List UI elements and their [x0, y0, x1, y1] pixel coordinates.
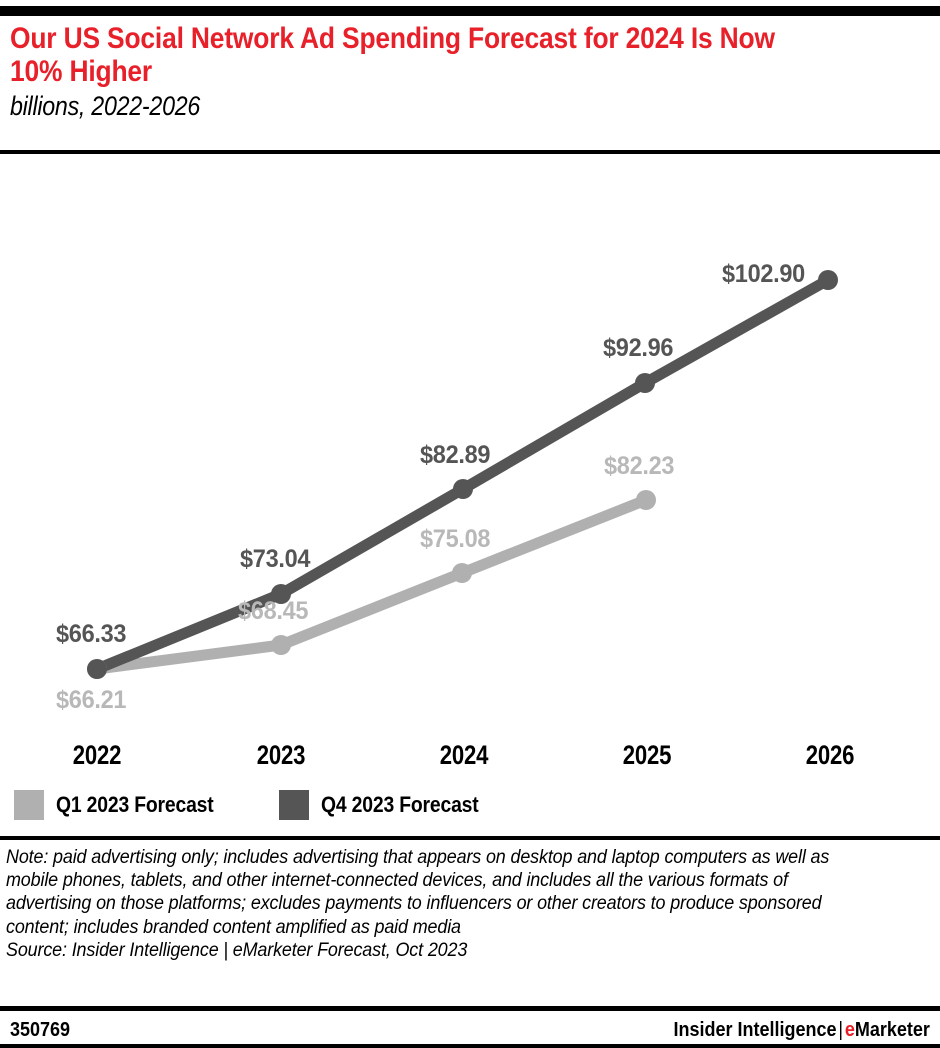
brand-emarketer-rest: Marketer	[855, 1019, 930, 1041]
value-label-q1-2023: $68.45	[238, 597, 308, 626]
note-divider	[0, 836, 940, 840]
page-subtitle: billions, 2022-2026	[10, 90, 801, 122]
value-label-q4-2022: $66.33	[56, 620, 126, 649]
data-point-q4-2024	[453, 479, 473, 499]
legend-item-q4-2023[interactable]: Q4 2023 Forecast	[279, 790, 500, 820]
chart-page: Our US Social Network Ad Spending Foreca…	[0, 0, 940, 1048]
chart-footer: 350769 Insider Intelligence|eMarketer	[0, 1015, 940, 1045]
x-tick-2023: 2023	[257, 740, 306, 771]
legend-item-q1-2023[interactable]: Q1 2023 Forecast	[14, 790, 235, 820]
data-point-q4-2025	[635, 373, 655, 393]
brand-mark: Insider Intelligence|eMarketer	[674, 1019, 930, 1042]
series-line-q4-2023	[97, 280, 828, 669]
value-label-q1-2024: $75.08	[420, 525, 490, 554]
value-label-q4-2024: $82.89	[420, 441, 490, 470]
x-tick-2024: 2024	[440, 740, 489, 771]
data-point-q1-2024	[452, 563, 472, 583]
chart-legend: Q1 2023 Forecast Q4 2023 Forecast	[14, 790, 500, 820]
chart-header: Our US Social Network Ad Spending Foreca…	[0, 22, 940, 122]
chart-note: Note: paid advertising only; includes ad…	[6, 846, 860, 962]
chart-id: 350769	[10, 1019, 70, 1042]
x-tick-2022: 2022	[73, 740, 122, 771]
note-source: Source: Insider Intelligence | eMarketer…	[6, 939, 860, 962]
x-tick-2025: 2025	[623, 740, 672, 771]
brand-insider-intelligence: Insider Intelligence	[674, 1019, 837, 1041]
line-chart-plot: $66.33 $73.04 $82.89 $92.96 $102.90 $66.…	[0, 160, 940, 735]
x-axis: 2022 2023 2024 2025 2026	[0, 740, 940, 776]
header-divider	[0, 150, 940, 154]
legend-swatch-q1-2023	[14, 790, 44, 820]
top-rule	[0, 6, 940, 16]
legend-label-q1-2023: Q1 2023 Forecast	[56, 792, 214, 818]
value-label-q1-2025: $82.23	[604, 452, 674, 481]
series-line-q1-2023	[97, 500, 646, 669]
data-point-q4-2026	[818, 270, 838, 290]
data-point-q1-2023	[271, 635, 291, 655]
legend-label-q4-2023: Q4 2023 Forecast	[321, 792, 479, 818]
value-label-q4-2025: $92.96	[603, 334, 673, 363]
x-tick-2026: 2026	[806, 740, 855, 771]
footer-divider	[0, 1006, 940, 1011]
bottom-rule	[0, 1044, 940, 1048]
data-point-q1-2025	[636, 490, 656, 510]
page-title: Our US Social Network Ad Spending Foreca…	[10, 22, 820, 88]
legend-swatch-q4-2023	[279, 790, 309, 820]
brand-emarketer-e: e	[845, 1019, 855, 1041]
value-label-q4-2026: $102.90	[722, 260, 805, 289]
data-point-q4-2022	[87, 659, 107, 679]
value-label-q4-2023: $73.04	[240, 545, 310, 574]
note-body: Note: paid advertising only; includes ad…	[6, 846, 860, 939]
value-label-q1-2022: $66.21	[56, 686, 126, 715]
